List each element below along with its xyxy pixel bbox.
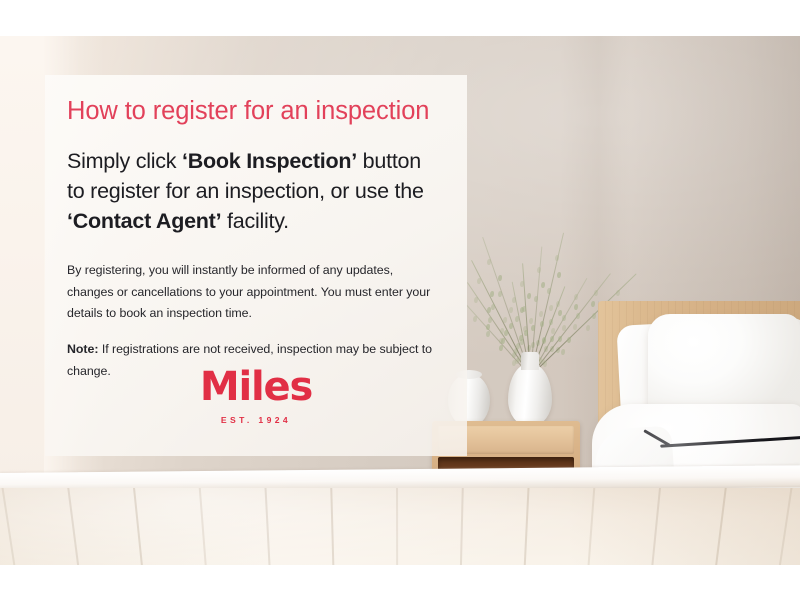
branch-leaf <box>561 349 565 355</box>
branch-leaf <box>537 267 541 273</box>
instruction-prefix: Simply click <box>67 149 182 173</box>
branch-leaf <box>509 307 513 313</box>
branch-leaf <box>501 338 505 344</box>
branch-leaf <box>504 330 508 336</box>
branch-leaf <box>543 361 547 367</box>
branch-leaf <box>547 288 551 294</box>
branch-leaf <box>509 323 513 329</box>
wall-accent-left <box>0 36 44 481</box>
branch-leaf <box>541 282 545 288</box>
branch-leaf <box>549 305 553 311</box>
branch-leaf <box>486 331 490 337</box>
instruction-suffix: facility. <box>221 209 289 233</box>
branch-leaf <box>540 321 544 327</box>
branch-leaf <box>594 290 598 296</box>
bedroom-scene-image: How to register for an inspection Simply… <box>0 36 800 565</box>
branch-leaf <box>616 290 620 296</box>
branch-leaf <box>549 319 553 325</box>
branch-leaf <box>558 336 562 342</box>
page-title: How to register for an inspection <box>67 97 437 126</box>
vase-large <box>508 364 552 426</box>
branch-leaf <box>477 278 481 284</box>
branch-leaf <box>503 317 507 323</box>
branch-leaf <box>592 313 596 319</box>
branch-leaf <box>529 318 533 324</box>
floor-plank-seam <box>396 488 398 565</box>
branch-leaf <box>576 313 580 319</box>
banner-canvas: How to register for an inspection Simply… <box>0 0 800 600</box>
branch-leaf <box>486 324 490 330</box>
branch-leaf <box>474 297 478 303</box>
logo-wordmark: Miles <box>45 367 467 407</box>
branch-leaf <box>586 325 590 331</box>
branch-leaf <box>574 304 578 310</box>
branch-leaf <box>527 293 531 299</box>
branch-leaf <box>498 291 502 297</box>
branch-leaf <box>487 259 491 265</box>
branch-leaf <box>522 306 526 312</box>
book-inspection-label: ‘Book Inspection’ <box>182 149 357 173</box>
branch-leaf <box>473 316 477 322</box>
branch-leaf <box>539 311 543 317</box>
branch-leaf <box>556 301 560 307</box>
brand-logo: Miles EST. 1924 <box>45 367 467 425</box>
info-panel: How to register for an inspection Simply… <box>45 75 467 456</box>
branch-leaf <box>557 272 561 278</box>
floor-highlight <box>0 488 800 565</box>
branch-leaf <box>591 301 595 307</box>
instruction-text: Simply click ‘Book Inspection’ button to… <box>67 147 437 236</box>
registration-details-text: By registering, you will instantly be in… <box>67 260 437 324</box>
branch-leaf <box>550 336 554 342</box>
letterbox-bottom <box>0 565 800 600</box>
contact-agent-label: ‘Contact Agent’ <box>67 209 221 233</box>
letterbox-top <box>0 0 800 36</box>
branch-leaf <box>488 317 492 323</box>
branch-leaf <box>490 291 494 297</box>
branch-leaf <box>499 345 503 351</box>
logo-established: EST. 1924 <box>45 416 467 425</box>
branch-leaf <box>567 337 571 343</box>
wood-floor <box>0 488 800 565</box>
branch-leaf <box>524 330 528 336</box>
branch-leaf <box>555 255 559 261</box>
note-label: Note: <box>67 342 98 356</box>
branch-leaf <box>574 294 578 300</box>
branch-leaf <box>491 304 495 310</box>
branch-leaf <box>498 275 502 281</box>
branch-leaf <box>512 297 516 303</box>
branch-leaf <box>562 315 566 321</box>
vase-large-neck <box>521 352 539 370</box>
